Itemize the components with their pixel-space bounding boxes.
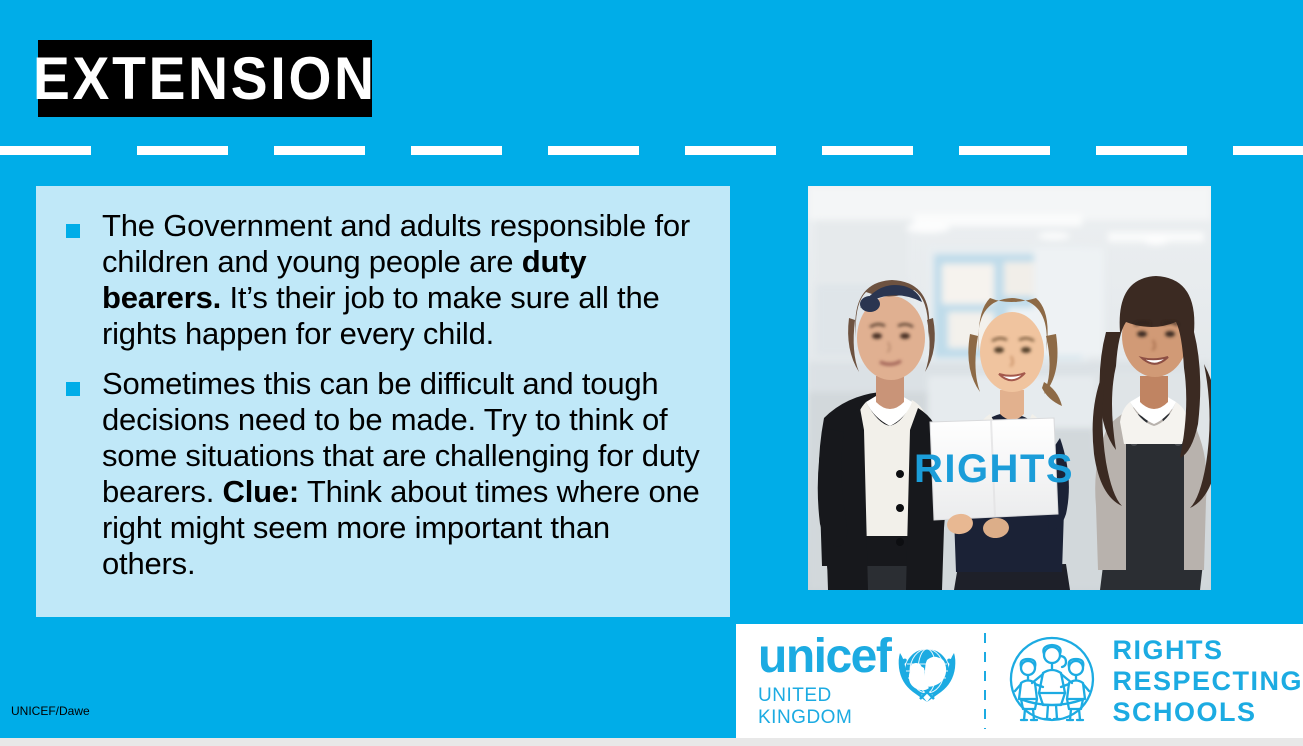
rrs-line-1: RIGHTS <box>1112 635 1303 666</box>
unicef-subtitle: UNITED KINGDOM <box>758 685 892 729</box>
photo-illustration: RIGHTS <box>808 186 1211 590</box>
photo-credit: UNICEF/Dawe <box>11 704 90 718</box>
logo-strip: unicef UNITED KINGDOM <box>736 624 1303 738</box>
slide: EXTENSION The Government and adults resp… <box>0 0 1303 746</box>
rrs-line-2: RESPECTING <box>1112 666 1303 697</box>
unicef-wordmark: unicef <box>758 633 892 681</box>
bullet-text-1: The Government and adults responsible fo… <box>102 208 702 352</box>
list-item: The Government and adults responsible fo… <box>66 208 702 352</box>
bottom-strip <box>0 738 1303 746</box>
content-panel: The Government and adults responsible fo… <box>36 186 730 617</box>
three-children-roundel-icon <box>1006 633 1098 730</box>
bullet-1-part-1: The Government and adults responsible fo… <box>102 208 690 279</box>
bullet-text-2: Sometimes this can be difficult and toug… <box>102 366 702 582</box>
unicef-globe-emblem-icon <box>894 644 960 711</box>
square-bullet-icon <box>66 224 80 238</box>
square-bullet-icon <box>66 382 80 396</box>
rights-respecting-schools-logo: RIGHTS RESPECTING SCHOOLS <box>1006 633 1303 730</box>
logo-divider <box>984 633 987 729</box>
bullet-2-part-2: Clue: <box>223 474 300 509</box>
rights-sign-text: RIGHTS <box>914 447 1074 491</box>
classroom-photo: RIGHTS <box>808 186 1211 590</box>
title-banner: EXTENSION <box>38 40 372 117</box>
unicef-logo: unicef UNITED KINGDOM <box>758 633 960 729</box>
list-item: Sometimes this can be difficult and toug… <box>66 366 702 582</box>
page-title: EXTENSION <box>33 49 377 109</box>
dashed-divider <box>0 146 1303 155</box>
rrs-line-3: SCHOOLS <box>1112 697 1303 728</box>
